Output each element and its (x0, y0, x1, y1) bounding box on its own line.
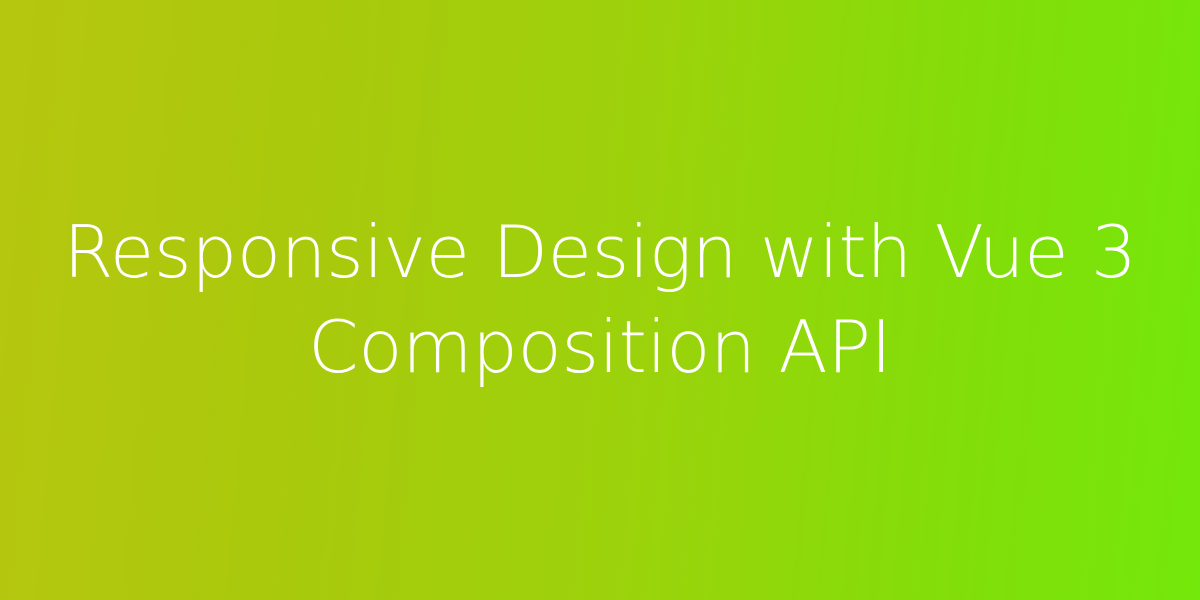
banner-title: Responsive Design with Vue 3 Composition… (0, 205, 1200, 395)
banner-card: Responsive Design with Vue 3 Composition… (0, 0, 1200, 600)
